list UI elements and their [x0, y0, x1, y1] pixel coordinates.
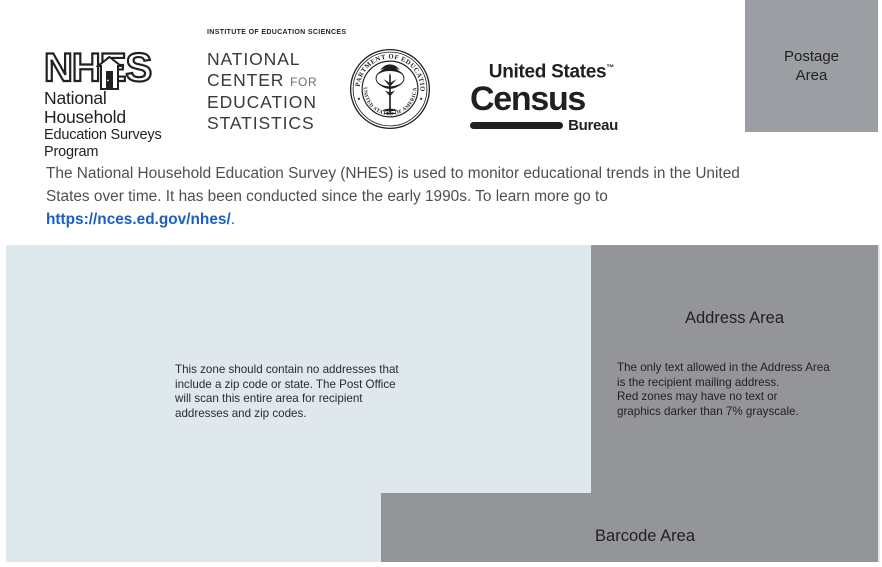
intro-paragraph: The National Household Education Survey …: [46, 163, 746, 231]
nces-line-center: CENTER FOR: [207, 70, 333, 93]
mailpiece-zones: This zone should contain no addresses th…: [0, 236, 882, 567]
address-instruction-line3: Red zones may have no text or: [617, 390, 867, 405]
census-bureau-text: Bureau: [568, 118, 618, 133]
nhes-website-link[interactable]: https://nces.ed.gov/nhes/: [46, 211, 231, 228]
nces-line-national: NATIONAL: [207, 49, 333, 70]
intro-text-trailing: .: [231, 211, 235, 228]
postage-label-line2: Area: [796, 67, 828, 84]
department-of-education-seal-icon: DEPARTMENT OF EDUCATION UNITED STATES OF…: [349, 48, 431, 130]
census-bar-rule: [470, 122, 563, 129]
address-instruction-line1: The only text allowed in the Address Are…: [617, 361, 867, 376]
clear-zone-instructions: This zone should contain no addresses th…: [175, 363, 405, 421]
house-icon: [96, 56, 123, 90]
barcode-area-zone: Barcode Area: [381, 493, 878, 562]
address-instruction-line4: graphics darker than 7% grayscale.: [617, 405, 867, 420]
nces-line-statistics: STATISTICS: [207, 113, 333, 134]
nhes-subtitle-line1: National Household: [44, 89, 190, 127]
nces-center-word: CENTER: [207, 70, 284, 90]
address-instruction-line2: is the recipient mailing address.: [617, 376, 867, 391]
census-united-states-text: United States™: [470, 58, 618, 82]
address-area-title: Address Area: [591, 308, 878, 328]
postage-label-line1: Postage: [784, 48, 839, 65]
address-area-instructions: The only text allowed in the Address Are…: [617, 361, 867, 419]
nhes-subtitle-line2: Education Surveys Program: [44, 127, 190, 161]
trademark-symbol: ™: [606, 63, 614, 72]
census-bureau-logo: United States™ Census Bureau: [470, 58, 618, 120]
barcode-area-title: Barcode Area: [595, 526, 695, 546]
header-logo-band: NHES National Household Education Survey…: [0, 0, 882, 236]
ies-eyebrow-text: INSTITUTE OF EDUCATION SCIENCES: [207, 28, 333, 38]
nhes-logo: NHES National Household Education Survey…: [44, 48, 190, 126]
nces-for-word: FOR: [290, 75, 317, 89]
nces-logo: INSTITUTE OF EDUCATION SCIENCES NATIONAL…: [207, 28, 333, 133]
nces-line-education: EDUCATION: [207, 92, 333, 113]
postage-area-zone: Postage Area: [745, 0, 878, 132]
census-wordmark: Census: [470, 83, 618, 115]
census-us-words: United States: [489, 61, 607, 82]
intro-text: The National Household Education Survey …: [46, 165, 740, 205]
postage-area-label: Postage Area: [784, 47, 839, 85]
